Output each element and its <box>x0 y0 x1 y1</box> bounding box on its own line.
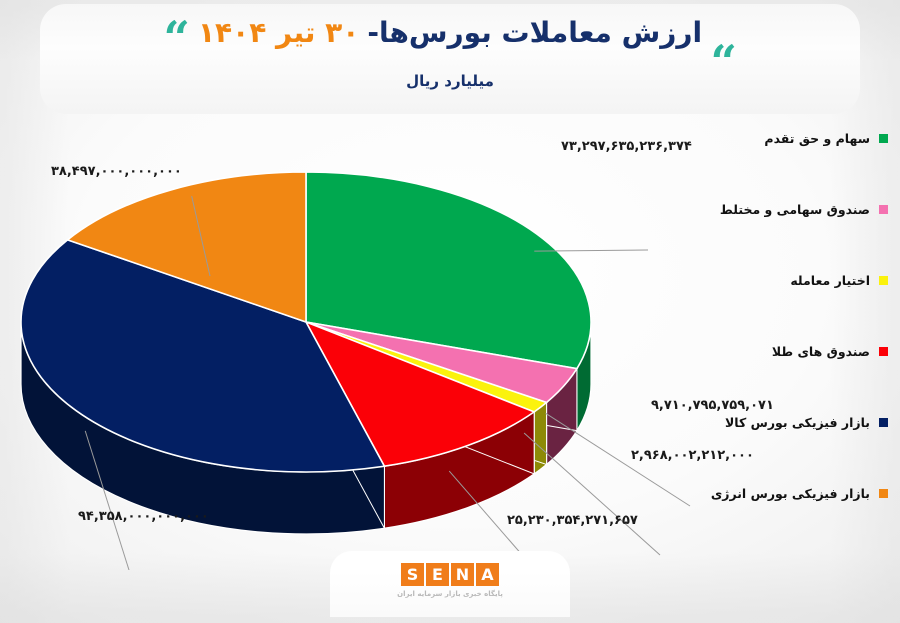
legend-swatch-options <box>879 276 888 285</box>
site-footer: S E N A پایگاه خبری بازار سرمایه ایران <box>0 543 900 617</box>
chart-legend: سهام و حق تقدم صندوق سهامی و مختلط اختیا… <box>698 130 888 501</box>
title-main-text: ارزش معاملات بورس‌ها- <box>367 16 702 49</box>
legend-item-shares[interactable]: سهام و حق تقدم <box>698 130 888 146</box>
legend-label-shares: سهام و حق تقدم <box>764 131 870 146</box>
logo-letter-n: N <box>451 563 474 586</box>
legend-swatch-shares <box>879 134 888 143</box>
value-label-energy-market: ۳۸,۴۹۷,۰۰۰,۰۰۰,۰۰۰ <box>51 164 182 179</box>
title-date-text: ۳۰ تیر ۱۴۰۴ <box>198 16 359 49</box>
legend-swatch-energy-market <box>879 489 888 498</box>
legend-label-energy-market: بازار فیزیکی بورس انرژی <box>711 486 870 501</box>
legend-item-energy-market[interactable]: بازار فیزیکی بورس انرژی <box>698 485 888 501</box>
legend-swatch-gold-fund <box>879 347 888 356</box>
legend-label-commodity-market: بازار فیزیکی بورس کالا <box>725 415 870 430</box>
legend-label-equity-fund: صندوق سهامی و مختلط <box>720 202 870 217</box>
chart-unit-subtitle: میلیارد ریال <box>0 72 900 90</box>
legend-item-gold-fund[interactable]: صندوق های طلا <box>698 343 888 359</box>
logo-letter-e: E <box>426 563 449 586</box>
pie-top-faces <box>21 172 591 472</box>
quote-close-icon: ” <box>710 25 736 53</box>
legend-item-options[interactable]: اختیار معامله <box>698 272 888 288</box>
sena-logo: S E N A <box>401 563 499 586</box>
legend-label-gold-fund: صندوق های طلا <box>772 344 870 359</box>
legend-swatch-equity-fund <box>879 205 888 214</box>
legend-swatch-commodity-market <box>879 418 888 427</box>
page-title: ” ارزش معاملات بورس‌ها- ۳۰ تیر ۱۴۰۴ “ <box>0 16 900 49</box>
logo-subtitle: پایگاه خبری بازار سرمایه ایران <box>397 590 503 598</box>
logo-letter-s: S <box>401 563 424 586</box>
logo-letter-a: A <box>476 563 499 586</box>
value-label-shares: ۷۳,۲۹۷,۶۳۵,۲۳۶,۳۷۴ <box>561 139 692 154</box>
quote-open-icon: “ <box>163 25 189 53</box>
chart-screenshot: ” ارزش معاملات بورس‌ها- ۳۰ تیر ۱۴۰۴ “ می… <box>0 0 900 623</box>
legend-item-equity-fund[interactable]: صندوق سهامی و مختلط <box>698 201 888 217</box>
legend-label-options: اختیار معامله <box>790 273 870 288</box>
value-label-commodity-market: ۹۴,۳۵۸,۰۰۰,۰۰۰,۰۰۰ <box>78 509 209 524</box>
legend-item-commodity-market[interactable]: بازار فیزیکی بورس کالا <box>698 414 888 430</box>
value-label-gold-fund: ۲۵,۲۳۰,۳۵۴,۲۷۱,۶۵۷ <box>507 513 638 528</box>
